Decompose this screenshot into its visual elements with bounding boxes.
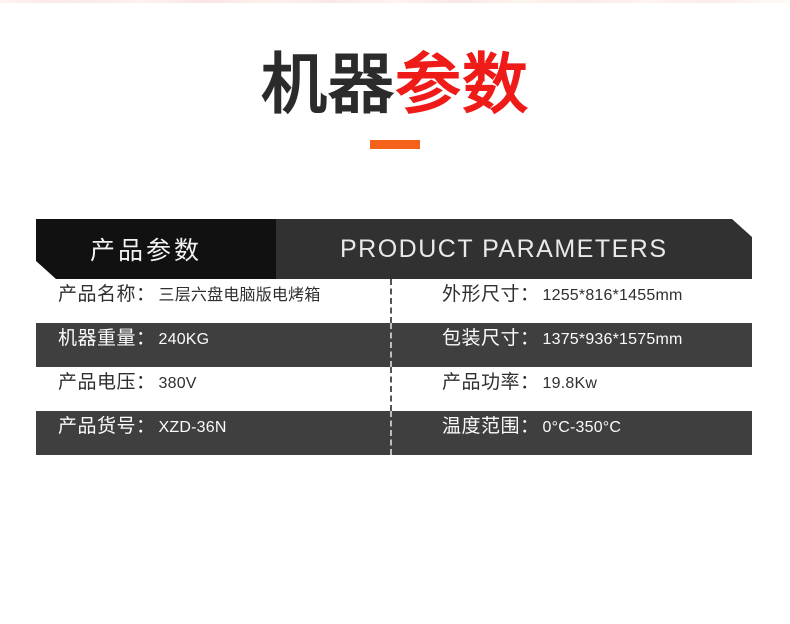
column-divider <box>390 367 392 411</box>
spec-cell-right: 温度范围： 0°C-350°C <box>390 411 752 455</box>
spec-label: 外形尺寸： <box>442 279 540 306</box>
spec-label: 温度范围： <box>442 411 540 438</box>
banner-left-panel: 产品参数 <box>36 219 276 279</box>
spec-cell-right: 包装尺寸： 1375*936*1575mm <box>390 323 752 367</box>
page-title-block: 机器参数 <box>0 52 790 149</box>
top-color-strip <box>0 0 790 3</box>
table-row: 产品货号： XZD-36N 温度范围： 0°C-350°C <box>36 411 752 455</box>
spec-cell-right: 产品功率： 19.8Kw <box>390 367 752 411</box>
banner-left-label: 产品参数 <box>90 231 202 267</box>
spec-value: 1375*936*1575mm <box>543 331 683 349</box>
spec-value: 三层六盘电脑版电烤箱 <box>159 281 321 305</box>
section-banner: 产品参数 PRODUCT PARAMETERS <box>36 219 752 279</box>
spec-label: 产品名称： <box>58 279 156 306</box>
spec-value: 1255*816*1455mm <box>543 287 683 305</box>
spec-value: 19.8Kw <box>543 375 598 393</box>
spec-value: 380V <box>159 375 197 393</box>
spec-value: XZD-36N <box>159 419 227 437</box>
spec-label: 产品功率： <box>442 367 540 394</box>
spec-cell-left: 机器重量： 240KG <box>36 323 390 367</box>
spec-label: 机器重量： <box>58 323 156 350</box>
spec-table: 产品名称： 三层六盘电脑版电烤箱 外形尺寸： 1255*816*1455mm 机… <box>36 279 752 455</box>
title-underline-bar <box>370 140 420 149</box>
spec-cell-left: 产品货号： XZD-36N <box>36 411 390 455</box>
banner-right-panel: PRODUCT PARAMETERS <box>276 219 752 279</box>
spec-cell-left: 产品电压： 380V <box>36 367 390 411</box>
spec-label: 产品货号： <box>58 411 156 438</box>
table-row: 产品电压： 380V 产品功率： 19.8Kw <box>36 367 752 411</box>
spec-value: 0°C-350°C <box>543 419 622 437</box>
spec-label: 产品电压： <box>58 367 156 394</box>
spec-label: 包装尺寸： <box>442 323 540 350</box>
banner-right-label: PRODUCT PARAMETERS <box>340 235 668 264</box>
column-divider <box>390 411 392 455</box>
table-row: 产品名称： 三层六盘电脑版电烤箱 外形尺寸： 1255*816*1455mm <box>36 279 752 323</box>
table-row: 机器重量： 240KG 包装尺寸： 1375*936*1575mm <box>36 323 752 367</box>
page-title-primary: 机器 <box>261 46 395 123</box>
page-title-accent: 参数 <box>395 46 529 123</box>
column-divider <box>390 323 392 367</box>
page-title: 机器参数 <box>0 52 790 118</box>
spec-value: 240KG <box>159 331 210 349</box>
column-divider <box>390 279 392 323</box>
spec-cell-left: 产品名称： 三层六盘电脑版电烤箱 <box>36 279 390 323</box>
spec-cell-right: 外形尺寸： 1255*816*1455mm <box>390 279 752 323</box>
